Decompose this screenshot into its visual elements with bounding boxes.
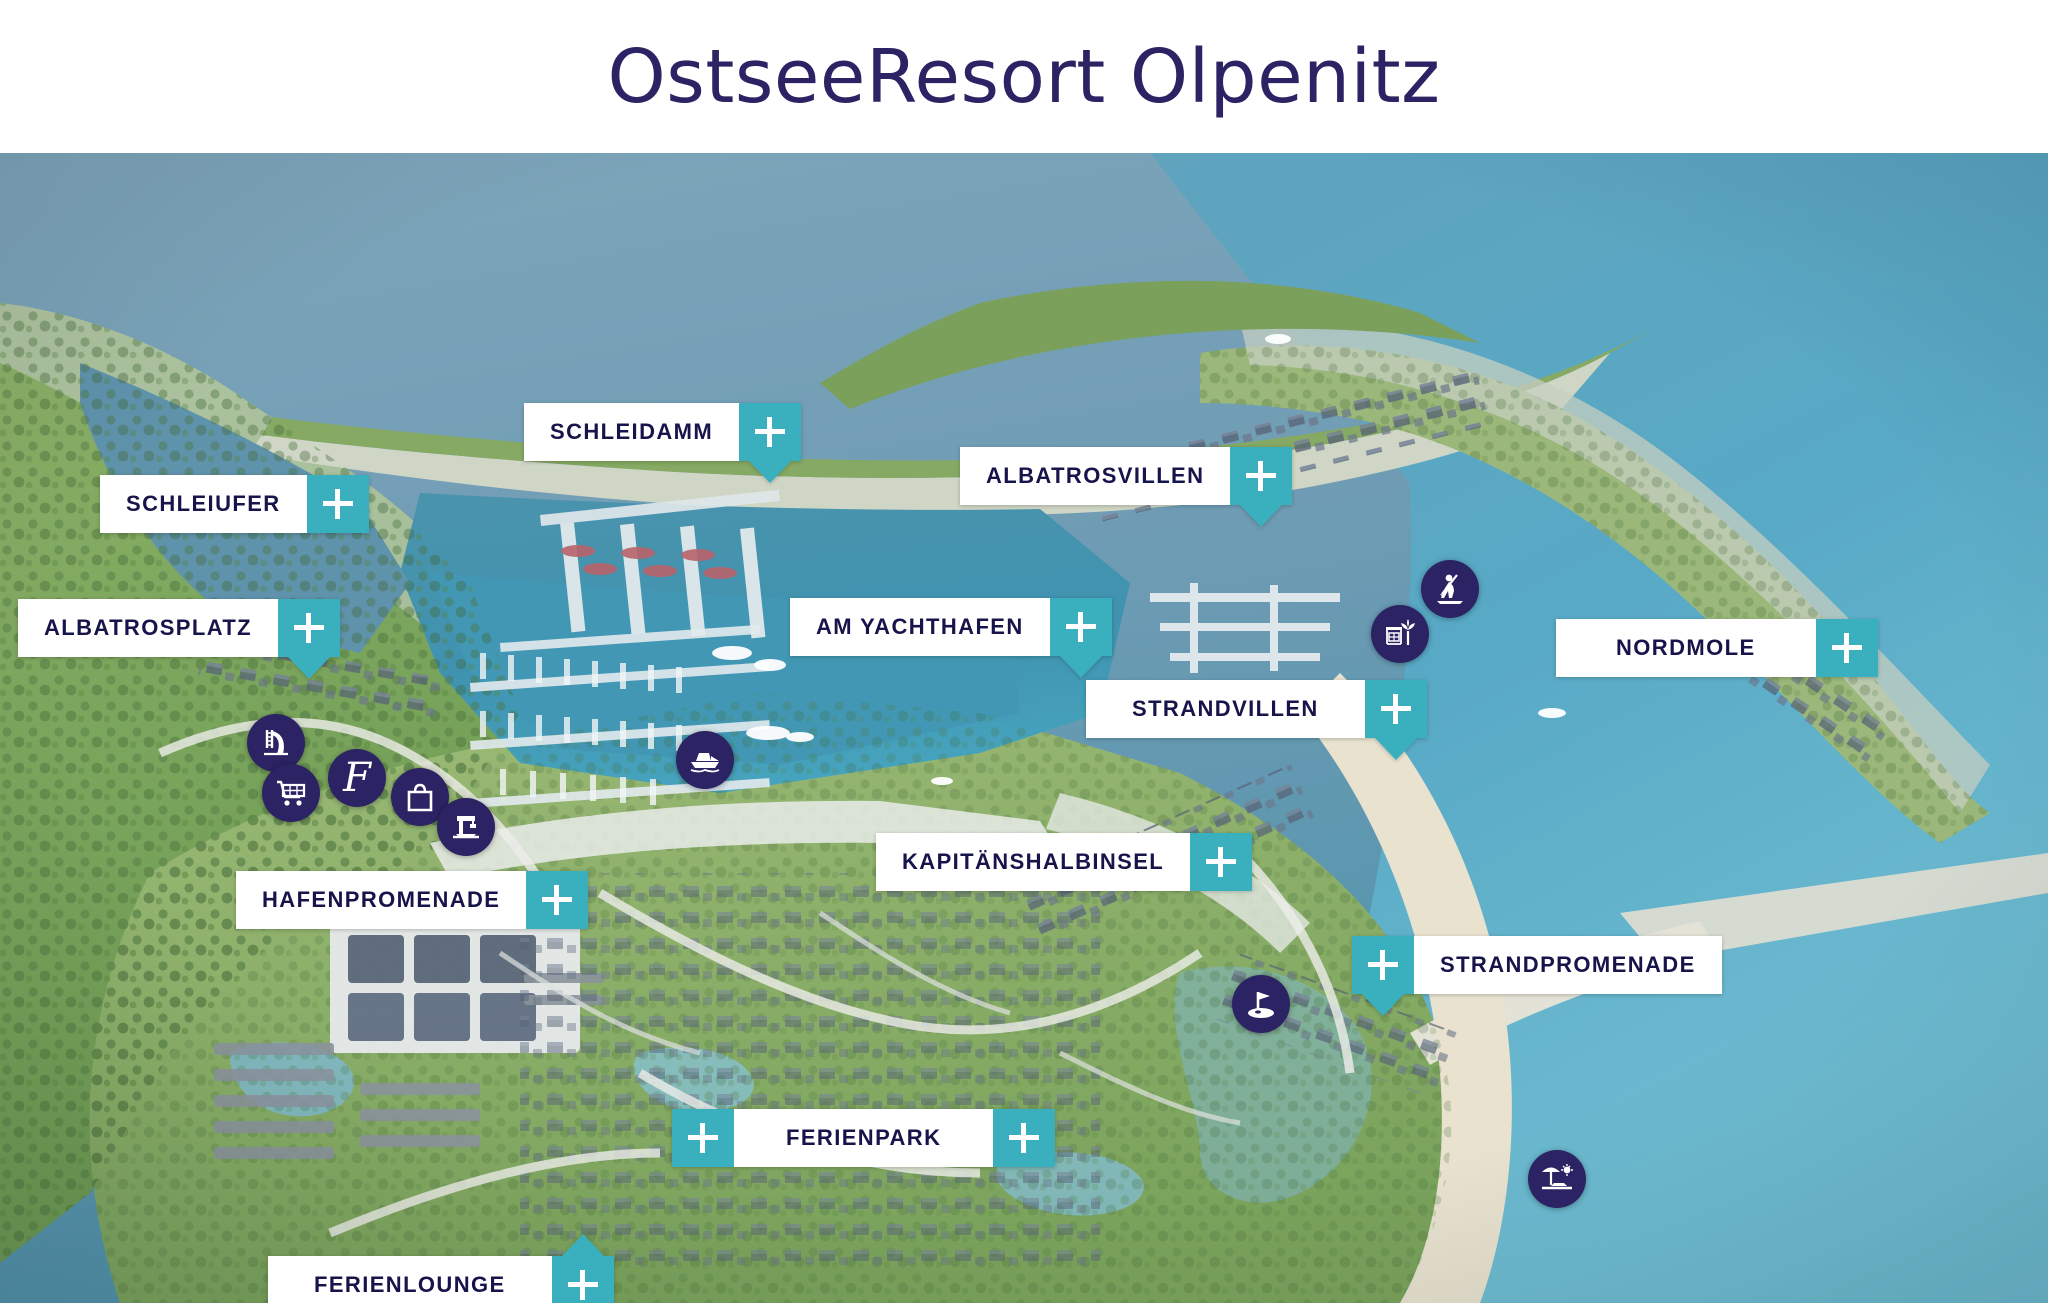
title-bar: OstseeResort Olpenitz bbox=[0, 0, 2048, 153]
plus-icon bbox=[688, 1123, 718, 1153]
hotspot-plus-button[interactable] bbox=[739, 403, 801, 461]
hotspot-schleidamm[interactable]: SCHLEIDAMM bbox=[524, 403, 801, 461]
hotspot-label-text: STRANDPROMENADE bbox=[1440, 952, 1696, 978]
plus-icon bbox=[568, 1270, 598, 1300]
hotspot-plus-button[interactable] bbox=[307, 475, 369, 533]
hotspot-strandvillen[interactable]: STRANDVILLEN bbox=[1086, 680, 1427, 738]
hotspot-label: STRANDPROMENADE bbox=[1414, 936, 1722, 994]
hotspot-label: SCHLEIUFER bbox=[100, 475, 307, 533]
hotspot-label-text: STRANDVILLEN bbox=[1132, 696, 1319, 722]
hotspot-albatrosplatz[interactable]: ALBATROSPLATZ bbox=[18, 599, 340, 657]
f-logo-letter: F bbox=[343, 758, 371, 798]
market-stall-icon[interactable] bbox=[1371, 605, 1429, 663]
plus-icon bbox=[1832, 633, 1862, 663]
plus-icon bbox=[1381, 694, 1411, 724]
plus-icon bbox=[1009, 1123, 1039, 1153]
hotspot-plus-button[interactable] bbox=[526, 871, 588, 929]
beach-umbrella-icon[interactable] bbox=[1528, 1150, 1586, 1208]
plus-icon bbox=[323, 489, 353, 519]
hotspot-label-text: ALBATROSPLATZ bbox=[44, 615, 252, 641]
hotspot-label-text: AM YACHTHAFEN bbox=[816, 614, 1024, 640]
f-logo-icon[interactable]: F bbox=[328, 749, 386, 807]
waterslide-icon[interactable] bbox=[247, 714, 305, 772]
hotspot-label: KAPITÄNSHALBINSEL bbox=[876, 833, 1190, 891]
hotspot-plus-button[interactable] bbox=[1230, 447, 1292, 505]
hotspot-label: FERIENPARK bbox=[734, 1109, 993, 1167]
plus-icon bbox=[1246, 461, 1276, 491]
page-title: OstseeResort Olpenitz bbox=[608, 34, 1441, 120]
hotspot-schleiufer[interactable]: SCHLEIUFER bbox=[100, 475, 369, 533]
hotspot-label-text: FERIENLOUNGE bbox=[314, 1272, 506, 1298]
hotspot-plus-button[interactable] bbox=[1365, 680, 1427, 738]
hotspot-plus-button[interactable] bbox=[1816, 619, 1878, 677]
plus-icon bbox=[755, 417, 785, 447]
motorboat-icon[interactable] bbox=[676, 731, 734, 789]
hotspot-ferienpark[interactable]: FERIENPARK bbox=[672, 1109, 1055, 1167]
hotspot-label: ALBATROSVILLEN bbox=[960, 447, 1230, 505]
hotspot-label: AM YACHTHAFEN bbox=[790, 598, 1050, 656]
hotspot-label: SCHLEIDAMM bbox=[524, 403, 739, 461]
hotspot-ferienlounge[interactable]: FERIENLOUNGE bbox=[268, 1256, 614, 1303]
page-root: OstseeResort Olpenitz bbox=[0, 0, 2048, 1303]
hotspot-albatrosvillen[interactable]: ALBATROSVILLEN bbox=[960, 447, 1292, 505]
hotspot-plus-button[interactable] bbox=[278, 599, 340, 657]
hotspot-plus-button-left[interactable] bbox=[672, 1109, 734, 1167]
hotspot-label: NORDMOLE bbox=[1556, 619, 1816, 677]
plus-icon bbox=[1368, 950, 1398, 980]
hotspot-label-text: HAFENPROMENADE bbox=[262, 887, 500, 913]
plus-icon bbox=[1206, 847, 1236, 877]
plus-icon bbox=[294, 613, 324, 643]
hotspot-label-text: ALBATROSVILLEN bbox=[986, 463, 1204, 489]
hotspot-label: FERIENLOUNGE bbox=[268, 1256, 552, 1303]
hotspot-plus-button[interactable] bbox=[1352, 936, 1414, 994]
hotspot-label-text: SCHLEIDAMM bbox=[550, 419, 713, 445]
hotspot-plus-button-right[interactable] bbox=[993, 1109, 1055, 1167]
hotspot-hafenpromenade[interactable]: HAFENPROMENADE bbox=[236, 871, 588, 929]
resort-map[interactable]: F bbox=[0, 153, 2048, 1303]
plus-icon bbox=[1066, 612, 1096, 642]
hotspot-plus-button[interactable] bbox=[1050, 598, 1112, 656]
shopping-cart-icon[interactable] bbox=[262, 764, 320, 822]
hotspot-label-text: NORDMOLE bbox=[1616, 635, 1756, 661]
hotspot-am-yachthafen[interactable]: AM YACHTHAFEN bbox=[790, 598, 1112, 656]
hotspot-label: ALBATROSPLATZ bbox=[18, 599, 278, 657]
plus-icon bbox=[542, 885, 572, 915]
hotspot-plus-button[interactable] bbox=[552, 1256, 614, 1303]
hotspot-strandpromenade[interactable]: STRANDPROMENADE bbox=[1352, 936, 1722, 994]
harbour-crane-icon[interactable] bbox=[437, 798, 495, 856]
hotspot-label-text: SCHLEIUFER bbox=[126, 491, 281, 517]
hotspot-label-text: KAPITÄNSHALBINSEL bbox=[902, 849, 1164, 875]
hotspot-label-text: FERIENPARK bbox=[786, 1125, 941, 1151]
hotspot-plus-button[interactable] bbox=[1190, 833, 1252, 891]
golf-flag-icon[interactable] bbox=[1232, 975, 1290, 1033]
hotspot-kapitaenshalbinsel[interactable]: KAPITÄNSHALBINSEL bbox=[876, 833, 1252, 891]
paddleboard-icon[interactable] bbox=[1421, 560, 1479, 618]
hotspot-label: STRANDVILLEN bbox=[1086, 680, 1365, 738]
hotspot-nordmole[interactable]: NORDMOLE bbox=[1556, 619, 1878, 677]
hotspot-label: HAFENPROMENADE bbox=[236, 871, 526, 929]
